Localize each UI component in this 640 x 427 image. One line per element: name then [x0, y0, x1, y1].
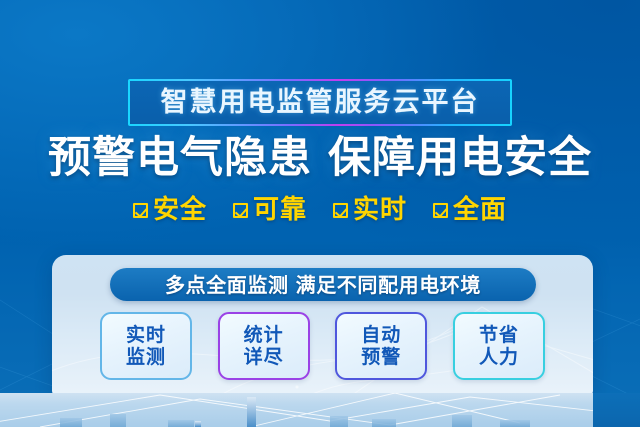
feature-checklist: 安全 可靠 实时 全面 [0, 197, 640, 223]
card-line-1: 节省 [479, 324, 519, 346]
platform-title-box: 智慧用电监管服务云平台 [128, 79, 512, 126]
card-line-2: 预警 [361, 346, 401, 368]
feature-panel: 多点全面监测满足不同配用电环境 实时 监测 统计 详尽 自动 预警 节省 人力 [52, 255, 593, 395]
headline-part-2: 保障用电安全 [328, 133, 592, 183]
checklist-label: 全面 [453, 197, 507, 223]
building [372, 419, 396, 427]
checklist-item-comprehensive: 全面 [433, 197, 507, 223]
checkbox-checked-icon [233, 203, 248, 218]
feature-card-save-manpower[interactable]: 节省 人力 [453, 312, 545, 380]
pill-part-1: 多点全面监测 [165, 273, 289, 297]
bottom-right-blue-block [593, 393, 640, 427]
card-line-2: 人力 [479, 346, 519, 368]
checkbox-checked-icon [133, 203, 148, 218]
headline-part-1: 预警电气隐患 [48, 133, 312, 183]
checklist-label: 安全 [153, 197, 207, 223]
card-line-2: 监测 [126, 346, 166, 368]
checklist-label: 实时 [353, 197, 407, 223]
cityscape-network-lines [0, 393, 640, 427]
building [330, 416, 348, 427]
checkbox-checked-icon [433, 203, 448, 218]
feature-card-realtime-monitoring[interactable]: 实时 监测 [100, 312, 192, 380]
card-line-1: 统计 [244, 324, 284, 346]
card-line-2: 详尽 [244, 346, 284, 368]
building [452, 415, 472, 427]
building [110, 414, 126, 427]
feature-card-detailed-statistics[interactable]: 统计 详尽 [218, 312, 310, 380]
card-line-1: 自动 [361, 324, 401, 346]
building [60, 418, 82, 427]
tower-antenna [195, 421, 201, 427]
checklist-item-reliable: 可靠 [233, 197, 307, 223]
building [168, 420, 194, 427]
checklist-item-safe: 安全 [133, 197, 207, 223]
bottom-cityscape [0, 393, 640, 427]
headline: 预警电气隐患保障用电安全 [0, 136, 640, 181]
checklist-item-realtime: 实时 [333, 197, 407, 223]
promo-banner: 智慧用电监管服务云平台 预警电气隐患保障用电安全 安全 可靠 实时 全面 [0, 0, 640, 427]
tower-building [247, 397, 256, 427]
checklist-label: 可靠 [253, 197, 307, 223]
pill-part-2: 满足不同配用电环境 [296, 273, 481, 297]
panel-subtitle-text: 多点全面监测满足不同配用电环境 [165, 275, 481, 295]
feature-card-list: 实时 监测 统计 详尽 自动 预警 节省 人力 [100, 312, 545, 380]
card-line-1: 实时 [126, 324, 166, 346]
platform-title-text: 智慧用电监管服务云平台 [161, 89, 480, 116]
feature-card-auto-alarm[interactable]: 自动 预警 [335, 312, 427, 380]
building [500, 420, 530, 427]
panel-subtitle-pill: 多点全面监测满足不同配用电环境 [110, 268, 536, 301]
checkbox-checked-icon [333, 203, 348, 218]
